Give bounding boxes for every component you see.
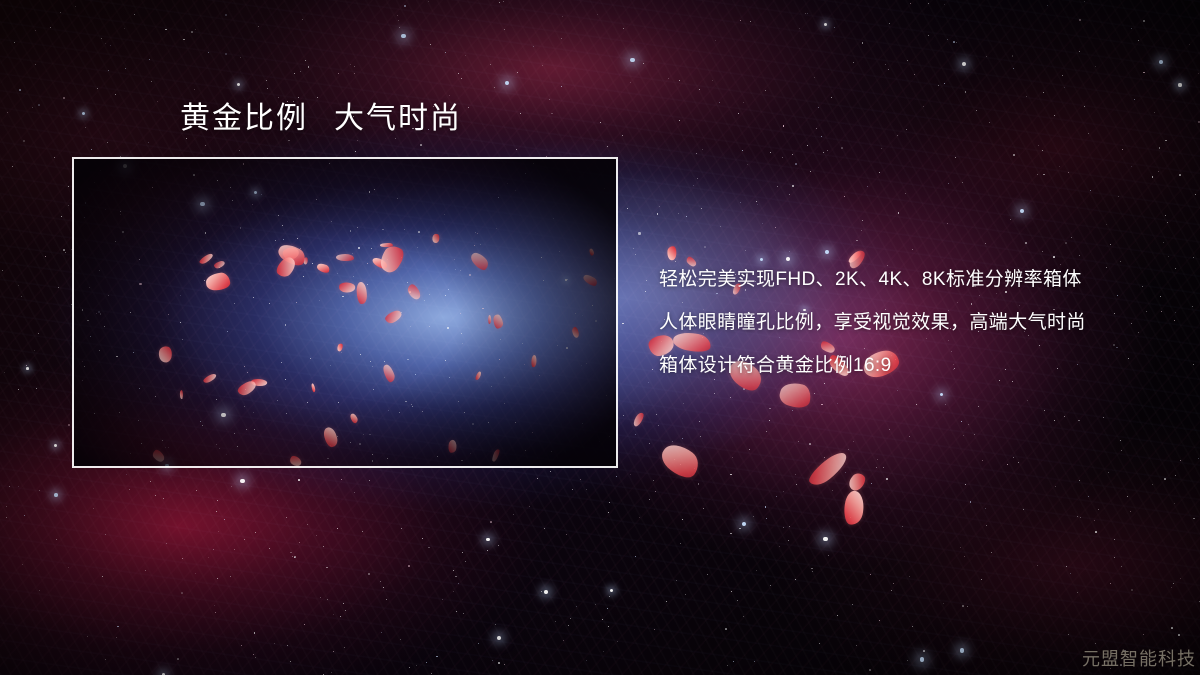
slide-canvas: 黄金比例大气时尚 轻松完美实现FHD、2K、4K、8K标准分辨率箱体 人体眼睛瞳… xyxy=(0,0,1200,675)
description-line-2: 人体眼睛瞳孔比例，享受视觉效果，高端大气时尚 xyxy=(659,301,1189,344)
photo-image xyxy=(74,159,616,466)
description-line-3: 箱体设计符合黄金比例16:9 xyxy=(659,344,1189,387)
feature-description: 轻松完美实现FHD、2K、4K、8K标准分辨率箱体 人体眼睛瞳孔比例，享受视觉效… xyxy=(659,258,1189,387)
title-phrase-1: 黄金比例 xyxy=(180,102,308,135)
framed-galaxy-photo xyxy=(72,157,618,468)
page-title: 黄金比例大气时尚 xyxy=(180,102,462,135)
company-watermark: 元盟智能科技 xyxy=(1082,645,1196,671)
title-phrase-2: 大气时尚 xyxy=(334,102,462,135)
description-line-1: 轻松完美实现FHD、2K、4K、8K标准分辨率箱体 xyxy=(659,258,1189,301)
photo-edge-shading xyxy=(74,159,616,466)
